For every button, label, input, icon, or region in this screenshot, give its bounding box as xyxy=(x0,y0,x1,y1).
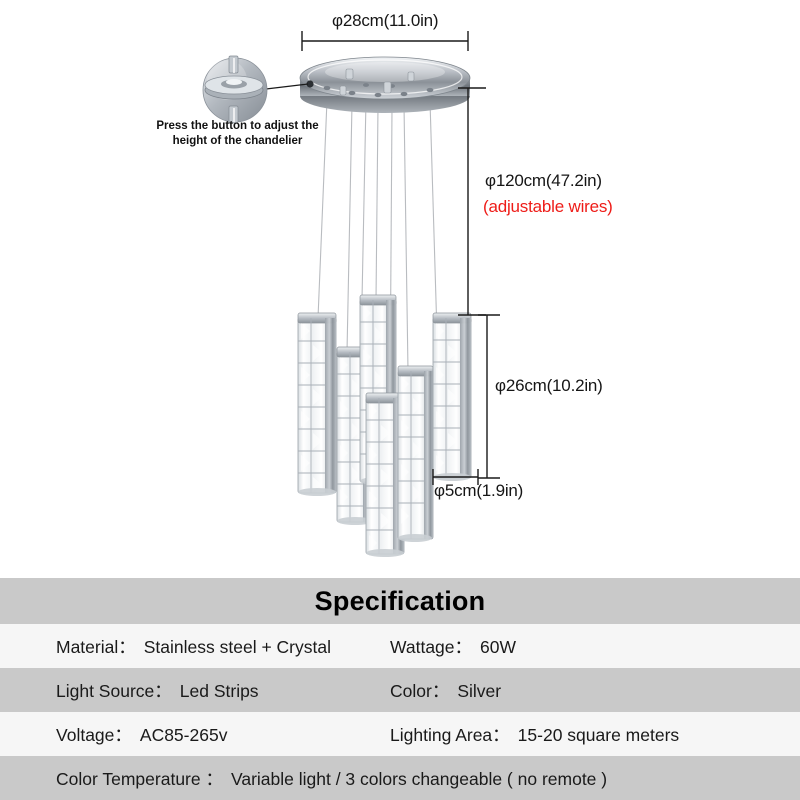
specification-title-band: Specification xyxy=(0,578,800,624)
dimension-label-rod-diameter: φ5cm(1.9in) xyxy=(434,481,523,501)
spec-key-voltage: Voltage： xyxy=(56,722,132,747)
spec-cell-lighting-area: Lighting Area： 15-20 square meters xyxy=(390,722,679,747)
spec-key-color-temperature: Color Temperature ： xyxy=(56,766,223,791)
spec-cell-light-source: Light Source： Led Strips xyxy=(0,678,390,703)
spec-value-wattage: 60W xyxy=(480,637,516,658)
dimension-label-canopy-diameter: φ28cm(11.0in) xyxy=(332,11,438,31)
spec-cell-color: Color： Silver xyxy=(390,678,501,703)
specification-table: Specification Material： Stainless steel … xyxy=(0,578,800,800)
spec-value-color: Silver xyxy=(457,681,501,702)
spec-value-light-source: Led Strips xyxy=(180,681,259,702)
callout-caption-line2: height of the chandelier xyxy=(155,134,320,149)
crystal-rod-group xyxy=(298,295,471,557)
dimension-label-wire-note: (adjustable wires) xyxy=(483,197,613,217)
ceiling-canopy xyxy=(300,57,470,113)
specification-title: Specification xyxy=(315,586,486,617)
spec-key-lighting-area: Lighting Area： xyxy=(390,722,510,747)
spec-cell-wattage: Wattage： 60W xyxy=(390,634,516,659)
chandelier-diagram: φ28cm(11.0in) φ120cm(47.2in) (adjustable… xyxy=(0,0,800,578)
spec-cell-material: Material： Stainless steel + Crystal xyxy=(0,634,390,659)
chandelier-drawing xyxy=(0,0,800,578)
dimension-rod-height xyxy=(478,315,500,478)
spec-key-wattage: Wattage： xyxy=(390,634,472,659)
spec-row-light-source: Light Source： Led Strips Color： Silver xyxy=(0,668,800,712)
crystal-rod xyxy=(433,313,471,481)
crystal-rod xyxy=(298,313,336,496)
dimension-wire-length xyxy=(458,88,486,315)
dimension-canopy-diameter xyxy=(302,31,468,51)
spec-cell-voltage: Voltage： AC85-265v xyxy=(0,722,390,747)
dimension-label-wire-length: φ120cm(47.2in) xyxy=(485,171,602,191)
spec-value-color-temperature: Variable light / 3 colors changeable ( n… xyxy=(231,769,607,790)
spec-cell-color-temperature: Color Temperature ： Variable light / 3 c… xyxy=(0,766,607,791)
product-spec-image: φ28cm(11.0in) φ120cm(47.2in) (adjustable… xyxy=(0,0,800,800)
spec-value-material: Stainless steel + Crystal xyxy=(144,637,331,658)
spec-key-color: Color： xyxy=(390,678,449,703)
spec-key-material: Material： xyxy=(56,634,136,659)
spec-key-light-source: Light Source： xyxy=(56,678,172,703)
spec-row-material: Material： Stainless steel + Crystal Watt… xyxy=(0,624,800,668)
spec-value-voltage: AC85-265v xyxy=(140,725,228,746)
crystal-rod xyxy=(398,366,433,542)
callout-caption: Press the button to adjust the height of… xyxy=(155,119,320,148)
callout-caption-line1: Press the button to adjust the xyxy=(155,119,320,134)
spec-row-color-temperature: Color Temperature ： Variable light / 3 c… xyxy=(0,756,800,800)
spec-value-lighting-area: 15-20 square meters xyxy=(518,725,679,746)
spec-row-voltage: Voltage： AC85-265v Lighting Area： 15-20 … xyxy=(0,712,800,756)
callout-detail-circle xyxy=(203,56,267,123)
dimension-label-rod-height: φ26cm(10.2in) xyxy=(495,376,603,396)
